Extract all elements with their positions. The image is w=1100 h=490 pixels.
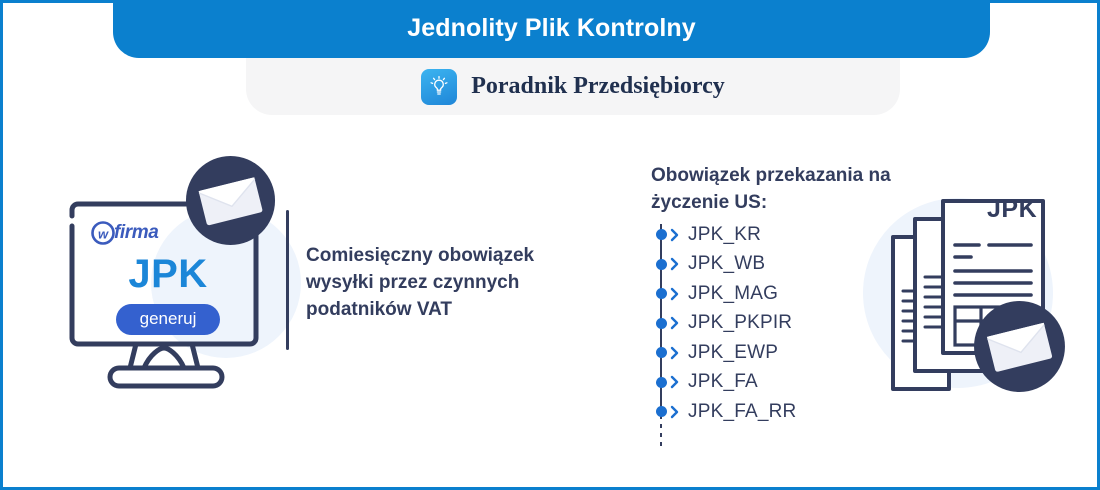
chevron-right-icon <box>670 228 680 242</box>
page-title: Jednolity Plik Kontrolny <box>407 14 696 43</box>
bullet-dot-icon <box>656 229 667 240</box>
bullet-dot-icon <box>656 259 667 270</box>
documents-illustration: JPK <box>863 173 1083 423</box>
chevron-right-icon <box>670 375 680 389</box>
chevron-right-icon <box>670 316 680 330</box>
bullet-dot-icon <box>656 377 667 388</box>
wfirma-mark-icon: w <box>90 220 116 246</box>
envelope-icon <box>183 153 278 248</box>
chevron-right-icon <box>670 257 680 271</box>
chevron-right-icon <box>670 405 680 419</box>
right-section: Obowiązek przekazania na życzenie US: JP… <box>648 163 1088 453</box>
list-item-label: JPK_KR <box>688 224 761 246</box>
bullet-dot-icon <box>656 347 667 358</box>
subtitle-text: Poradnik Przedsiębiorcy <box>471 73 725 100</box>
wfirma-wordmark: firma <box>114 222 158 244</box>
list-item-label: JPK_FA_RR <box>688 401 796 423</box>
subtitle-band: Poradnik Przedsiębiorcy <box>246 58 900 115</box>
list-item-label: JPK_WB <box>688 253 765 275</box>
generuj-button[interactable]: generuj <box>116 304 221 335</box>
list-item-label: JPK_MAG <box>688 283 778 305</box>
list-item-label: JPK_FA <box>688 371 758 393</box>
left-section: w firma JPK generuj Comiesięczny obowiąz… <box>58 148 548 413</box>
infographic-card: Jednolity Plik Kontrolny <box>0 0 1100 490</box>
header-bar: Jednolity Plik Kontrolny <box>113 0 990 58</box>
svg-text:w: w <box>98 227 109 242</box>
bullet-dot-icon <box>656 406 667 417</box>
chevron-right-icon <box>670 346 680 360</box>
monitor-illustration: w firma JPK generuj <box>58 148 288 398</box>
list-item-label: JPK_EWP <box>688 342 778 364</box>
envelope-icon <box>971 298 1068 395</box>
subtitle-inner: Poradnik Przedsiębiorcy <box>421 69 725 105</box>
list-item-label: JPK_PKPIR <box>688 312 792 334</box>
screen-jpk-heading: JPK <box>88 254 248 294</box>
lightbulb-icon <box>421 69 457 105</box>
document-jpk-label: JPK <box>987 195 1037 224</box>
left-caption-text: Comiesięczny obowiązek wysyłki przez czy… <box>306 243 556 324</box>
chevron-right-icon <box>670 287 680 301</box>
bullet-dot-icon <box>656 318 667 329</box>
bullet-dot-icon <box>656 288 667 299</box>
